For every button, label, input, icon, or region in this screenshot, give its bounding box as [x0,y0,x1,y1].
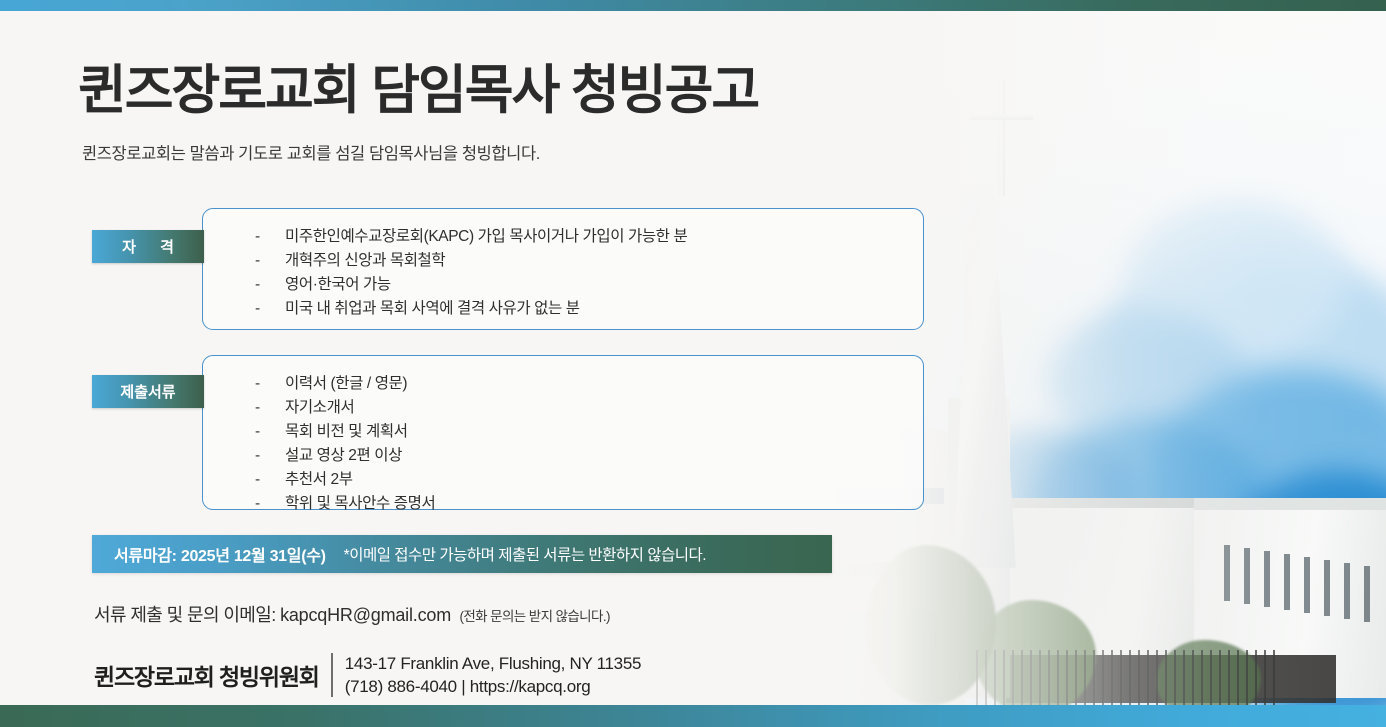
list-item: 설교 영상 2편 이상 [239,444,903,468]
list-item: 추천서 2부 [239,468,903,492]
list-item: 미국 내 취업과 목회 사역에 결격 사유가 없는 분 [239,297,903,321]
top-accent-bar [0,0,1386,11]
footer: 퀸즈장로교회 청빙위원회 143-17 Franklin Ave, Flushi… [94,652,641,698]
list-item: 이력서 (한글 / 영문) [239,372,903,396]
list-item: 자기소개서 [239,396,903,420]
documents-list: 이력서 (한글 / 영문) 자기소개서 목회 비전 및 계획서 설교 영상 2편… [239,372,903,516]
page-title: 퀸즈장로교회 담임목사 청빙공고 [78,48,758,124]
list-item: 목회 비전 및 계획서 [239,420,903,444]
footer-contact-block: 143-17 Franklin Ave, Flushing, NY 11355 … [345,652,641,698]
recruitment-poster: 퀸즈장로교회 담임목사 청빙공고 퀸즈장로교회는 말씀과 기도로 교회를 섬길 … [0,0,1386,727]
list-item: 학위 및 목사안수 증명서 [239,492,903,516]
email-label: 서류 제출 및 문의 이메일: [94,605,276,625]
list-item: 영어·한국어 가능 [239,273,903,297]
qualifications-list: 미주한인예수교장로회(KAPC) 가입 목사이거나 가입이 가능한 분 개혁주의… [239,225,903,321]
list-item: 미주한인예수교장로회(KAPC) 가입 목사이거나 가입이 가능한 분 [239,225,903,249]
footer-organization: 퀸즈장로교회 청빙위원회 [94,658,319,692]
email-note: (전화 문의는 받지 않습니다.) [459,609,609,624]
content-area: 퀸즈장로교회 담임목사 청빙공고 퀸즈장로교회는 말씀과 기도로 교회를 섬길 … [0,0,900,727]
footer-address: 143-17 Franklin Ave, Flushing, NY 11355 [345,652,641,675]
deadline-label: 서류마감: 2025년 12월 31일(수) [114,542,326,566]
documents-card: 이력서 (한글 / 영문) 자기소개서 목회 비전 및 계획서 설교 영상 2편… [202,355,924,510]
email-line: 서류 제출 및 문의 이메일: kapcqHR@gmail.com (전화 문의… [94,601,610,627]
deadline-banner: 서류마감: 2025년 12월 31일(수) *이메일 접수만 가능하며 제출된… [92,535,832,573]
footer-contact[interactable]: (718) 886-4040 | https://kapcq.org [345,675,641,698]
qualifications-badge: 자 격 [92,230,204,263]
bottom-accent-bar [0,705,1386,727]
list-item: 개혁주의 신앙과 목회철학 [239,249,903,273]
documents-badge: 제출서류 [92,375,204,408]
page-subtitle: 퀸즈장로교회는 말씀과 기도로 교회를 섬길 담임목사님을 청빙합니다. [82,140,540,164]
qualifications-card: 미주한인예수교장로회(KAPC) 가입 목사이거나 가입이 가능한 분 개혁주의… [202,208,924,330]
email-address[interactable]: kapcqHR@gmail.com [280,605,451,625]
footer-divider [331,653,333,697]
deadline-note: *이메일 접수만 가능하며 제출된 서류는 반환하지 않습니다. [344,543,706,565]
